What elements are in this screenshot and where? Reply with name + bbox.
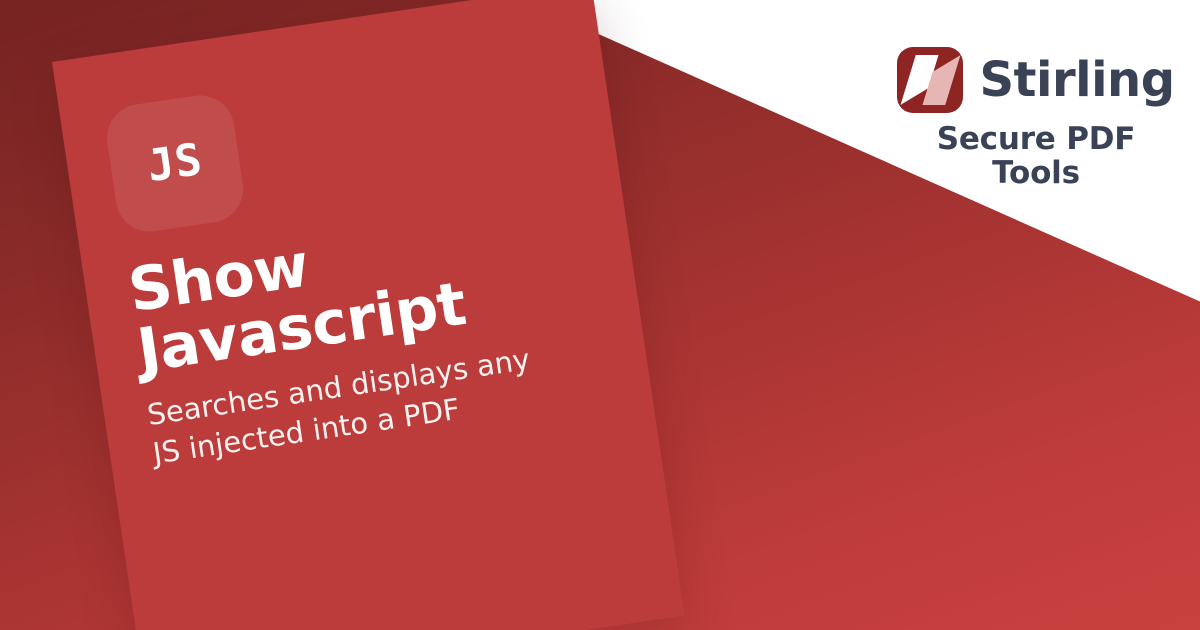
js-badge-label: JS [145,138,206,190]
stirling-pdf-logo-icon [897,47,963,113]
brand-block: Stirling Secure PDF Tools [910,44,1162,190]
javascript-js-icon: JS [102,91,247,236]
brand-name: Stirling [979,56,1174,104]
brand-tagline: Secure PDF Tools [910,122,1162,190]
brand-row: Stirling [910,44,1162,116]
og-banner: JS Show Javascript Searches and displays… [0,0,1200,630]
